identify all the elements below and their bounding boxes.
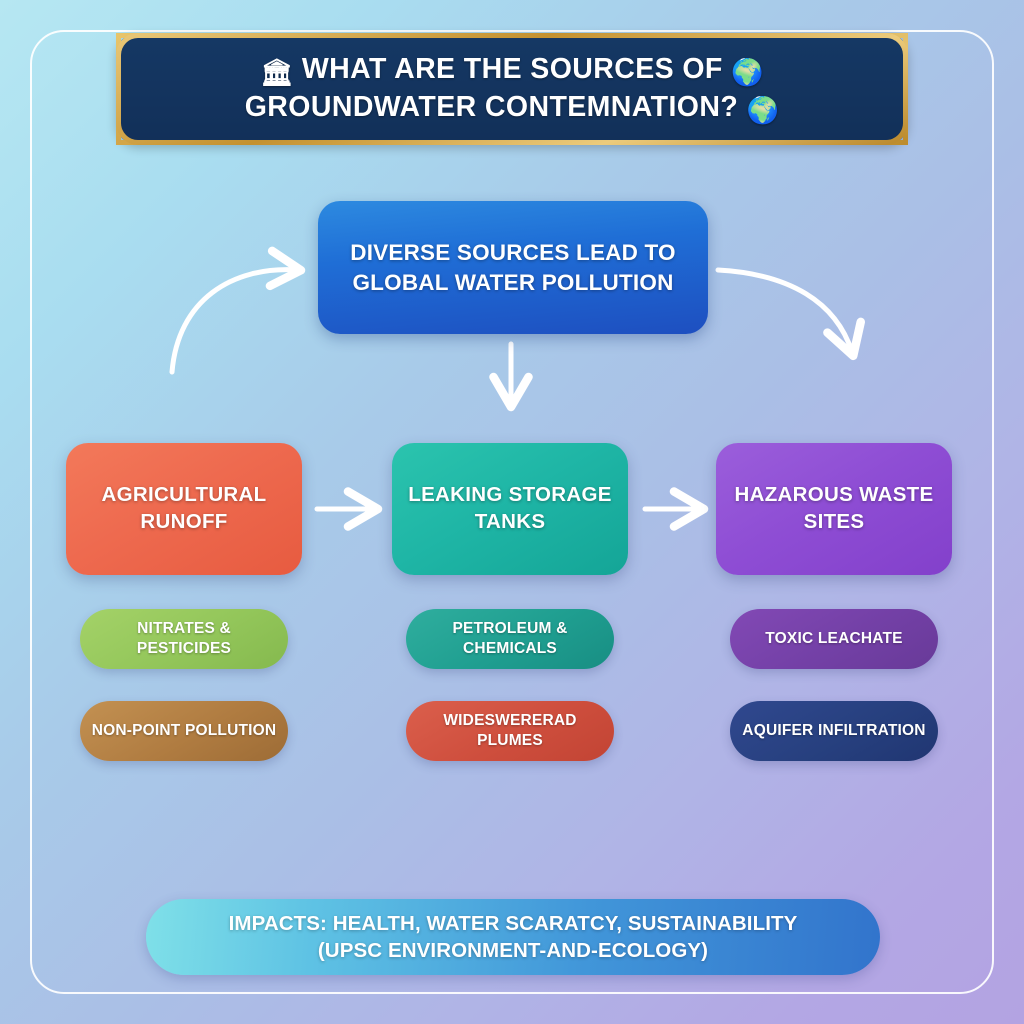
footer-line1: IMPACTS: HEALTH, WATER SCARATCY, SUSTAIN… (229, 912, 798, 935)
pill-toxic-leachate-label: TOXIC LEACHATE (755, 629, 912, 649)
pill-toxic-leachate[interactable]: TOXIC LEACHATE (730, 609, 938, 669)
pill-widespread-plumes-label: WIDESWERERAD PLUMES (406, 711, 614, 750)
infographic-canvas: 🏛 WHAT ARE THE SOURCES OF 🌍 GROUNDWATER … (0, 0, 1024, 1024)
node-hazardous-waste-sites-label: HAZAROUS WASTE SITES (716, 482, 952, 535)
pill-nitrates-pesticides-label: NITRATES & PESTICIDES (80, 619, 288, 658)
node-leaking-storage-tanks-label: LEAKING STORAGE TANKS (392, 482, 628, 535)
globe-icon-2: 🌍 (746, 95, 779, 125)
footer-banner: IMPACTS: HEALTH, WATER SCARATCY, SUSTAIN… (146, 899, 880, 975)
node-leaking-storage-tanks[interactable]: LEAKING STORAGE TANKS (392, 443, 628, 575)
pill-aquifer-infiltration[interactable]: AQUIFER INFILTRATION (730, 701, 938, 761)
footer-line2: (UPSC ENVIRONMENT-AND-ECOLOGY) (318, 939, 708, 962)
classical-building-icon: 🏛 (260, 57, 293, 87)
pill-nitrates-pesticides[interactable]: NITRATES & PESTICIDES (80, 609, 288, 669)
pill-non-point-pollution[interactable]: NON-POINT POLLUTION (80, 701, 288, 761)
node-hazardous-waste-sites[interactable]: HAZAROUS WASTE SITES (716, 443, 952, 575)
header-banner: 🏛 WHAT ARE THE SOURCES OF 🌍 GROUNDWATER … (116, 33, 908, 145)
node-agricultural-runoff[interactable]: AGRICULTURAL RUNOFF (66, 443, 302, 575)
globe-icon-1: 🌍 (731, 57, 764, 87)
footer-text: IMPACTS: HEALTH, WATER SCARATCY, SUSTAIN… (211, 910, 816, 965)
node-agricultural-runoff-label: AGRICULTURAL RUNOFF (66, 482, 302, 535)
pill-widespread-plumes[interactable]: WIDESWERERAD PLUMES (406, 701, 614, 761)
curved-arrow-into-top-node (172, 270, 297, 372)
page-title: 🏛 WHAT ARE THE SOURCES OF 🌍 GROUNDWATER … (231, 51, 794, 128)
node-diverse-sources-label: DIVERSE SOURCES LEAD TO GLOBAL WATER POL… (318, 238, 708, 297)
node-diverse-sources[interactable]: DIVERSE SOURCES LEAD TO GLOBAL WATER POL… (318, 201, 708, 334)
page-title-line2: GROUNDWATER CONTEMNATION? (245, 91, 738, 123)
pill-petroleum-chemicals[interactable]: PETROLEUM & CHEMICALS (406, 609, 614, 669)
pill-petroleum-chemicals-label: PETROLEUM & CHEMICALS (406, 619, 614, 658)
page-title-line1: WHAT ARE THE SOURCES OF (302, 53, 723, 85)
pill-aquifer-infiltration-label: AQUIFER INFILTRATION (732, 721, 935, 741)
curved-arrow-out-of-top-node (718, 270, 852, 352)
pill-non-point-pollution-label: NON-POINT POLLUTION (82, 721, 287, 741)
